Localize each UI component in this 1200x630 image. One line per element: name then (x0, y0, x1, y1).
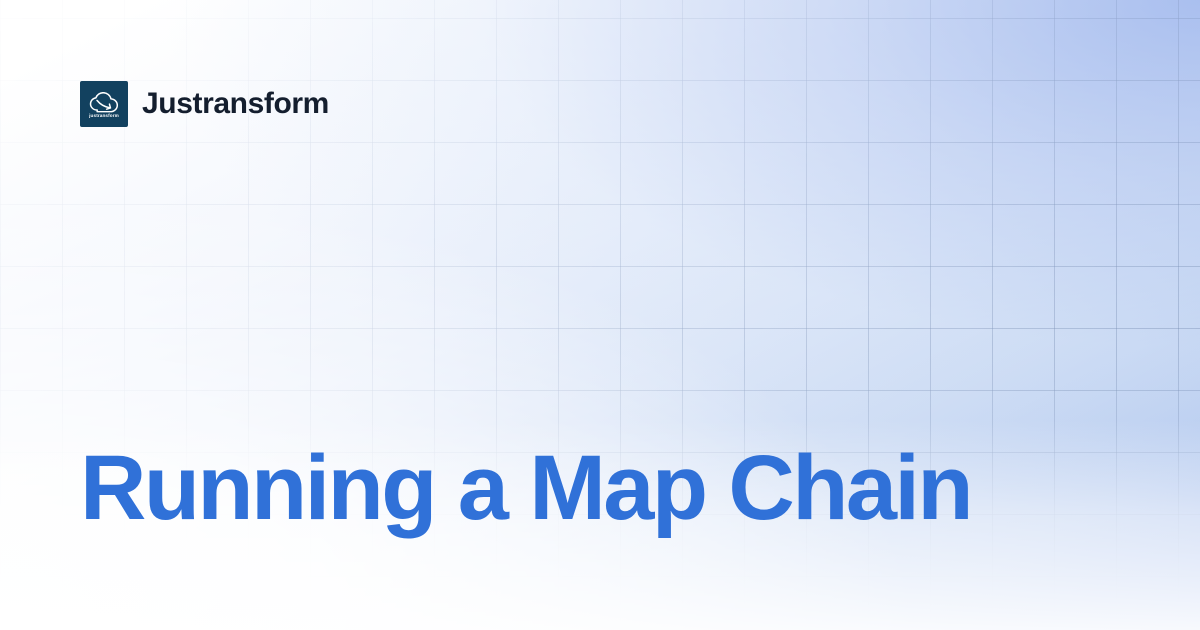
share-card: justransform Justransform Running a Map … (0, 0, 1200, 630)
cloud-arrow-icon (89, 92, 119, 113)
brand-logo-mark[interactable]: justransform (80, 81, 128, 127)
brand-name: Justransform (142, 89, 329, 119)
page-title: Running a Map Chain (80, 440, 1120, 537)
brand-lockup[interactable]: justransform Justransform (80, 81, 329, 127)
brand-mark-wordmark: justransform (89, 114, 119, 119)
